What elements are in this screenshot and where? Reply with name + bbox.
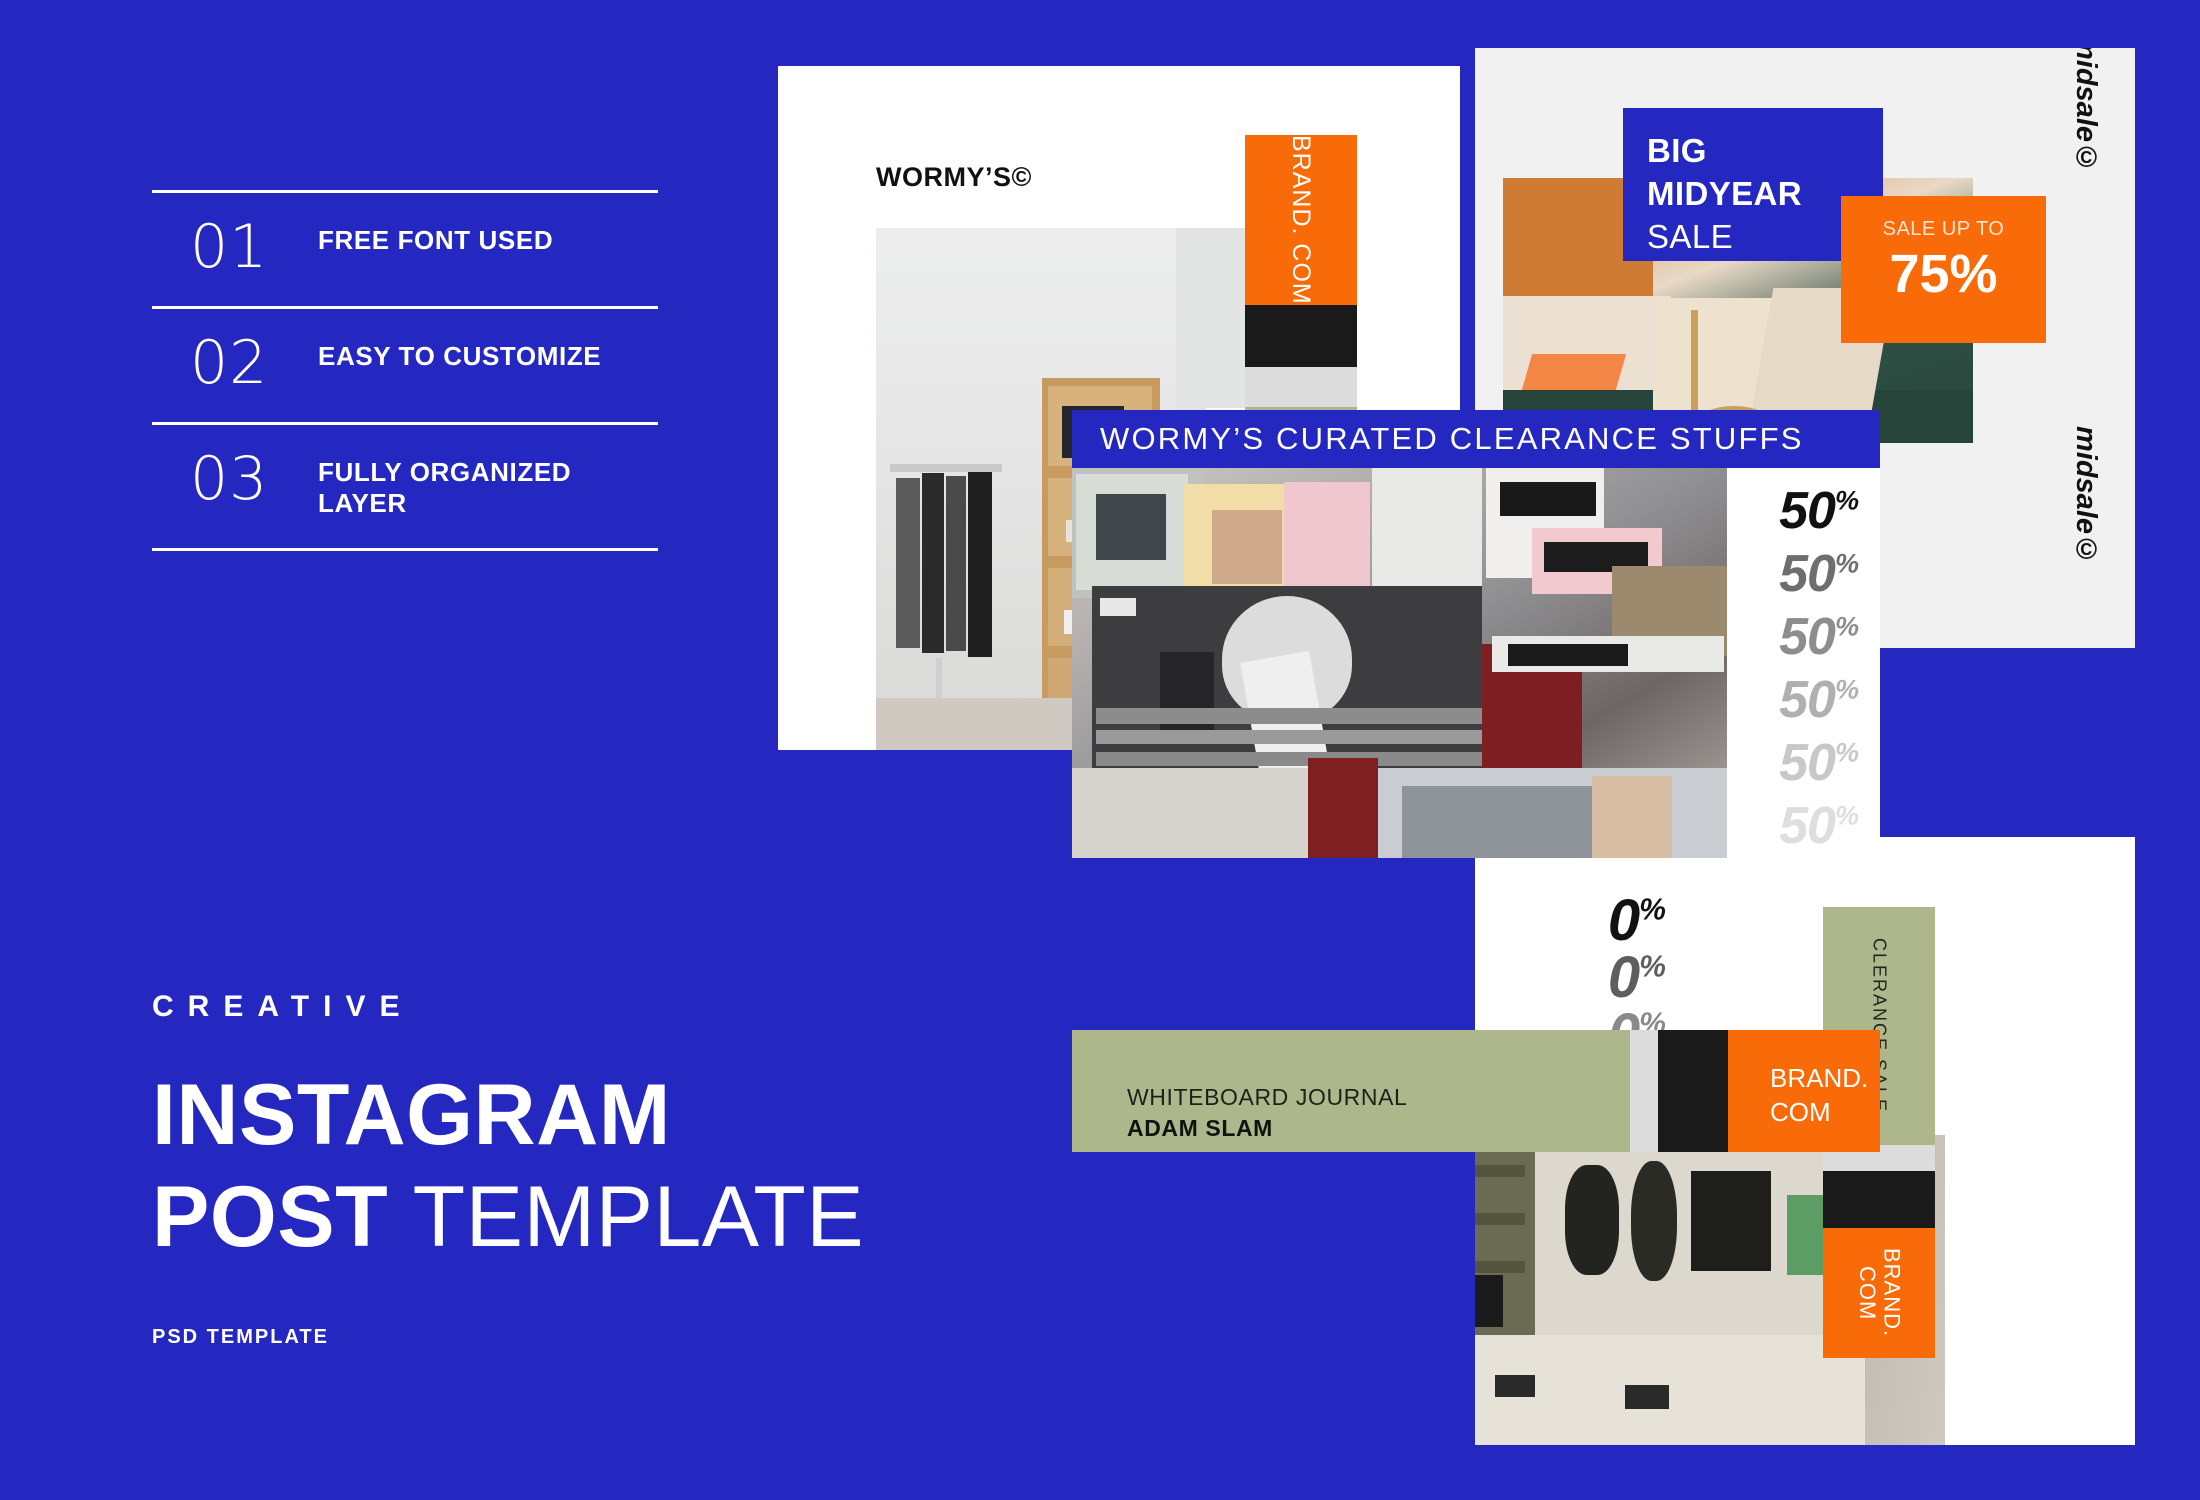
discount-row: 50%: [1727, 486, 1858, 537]
feature-label: FULLY ORGANIZED LAYER: [318, 451, 658, 518]
title-line-2: POST TEMPLATE: [152, 1174, 1052, 1260]
discount-row: 50%: [1727, 801, 1858, 852]
card-brand-name: WORMY’S©: [876, 162, 1032, 193]
feature-item-03: 03 FULLY ORGANIZED LAYER: [152, 425, 658, 548]
caption-sage-block: WHITEBOARD JOURNAL ADAM SLAM: [1072, 1030, 1630, 1152]
feature-label: EASY TO CUSTOMIZE: [318, 335, 601, 372]
brand-line-2: COM: [1770, 1096, 1880, 1130]
caption-publication: WHITEBOARD JOURNAL: [1127, 1082, 1630, 1113]
brand-tab-orange[interactable]: BRAND. COM: [1245, 135, 1357, 305]
swatch-black: [1658, 1030, 1728, 1152]
swatch-black: [1245, 305, 1357, 367]
kicker-text: CREATIVE: [152, 990, 1052, 1024]
title-line-2-bold: POST: [152, 1169, 388, 1265]
photo-magazine-rack: [1072, 468, 1727, 858]
discount-row: 50%: [1727, 675, 1858, 726]
feature-item-01: 01 FREE FONT USED: [152, 193, 658, 306]
title-footnote: PSD TEMPLATE: [152, 1326, 1052, 1349]
brand-tab-label: BRAND. COM: [1245, 135, 1357, 305]
discount-row: 50%: [1727, 738, 1858, 789]
caption-strip: WHITEBOARD JOURNAL ADAM SLAM BRAND. COM: [1072, 1030, 1880, 1190]
discount-row: 50%: [1727, 549, 1858, 600]
discount-row: 0%: [1475, 893, 1665, 950]
feature-number: 03: [190, 451, 282, 508]
photo-texture: [1072, 468, 1727, 858]
brand-tab-orange[interactable]: BRAND. COM: [1823, 1228, 1935, 1358]
feature-number: 01: [190, 219, 282, 276]
brand-block-orange[interactable]: BRAND. COM: [1728, 1030, 1880, 1152]
discount-row: 50%: [1727, 612, 1858, 663]
rotated-brand-label: midsale©: [2069, 48, 2102, 174]
discount-column: 50% 50% 50% 50% 50% 50%: [1727, 468, 1880, 858]
title-block: CREATIVE INSTAGRAM POST TEMPLATE PSD TEM…: [152, 990, 1052, 1349]
brand-tab-label: BRAND. COM: [1823, 1228, 1935, 1358]
feature-label: FREE FONT USED: [318, 219, 553, 256]
brand-line-1: BRAND.: [1770, 1062, 1880, 1096]
page-title: INSTAGRAM POST TEMPLATE: [152, 1072, 1052, 1260]
discount-badge: SALE UP TO 75%: [1841, 196, 2046, 343]
title-line-1: INSTAGRAM: [152, 1072, 1052, 1158]
discount-caption: SALE UP TO: [1841, 218, 2046, 241]
discount-row: 0%: [1475, 950, 1665, 1007]
sale-line-1: BIG: [1647, 130, 1883, 173]
poster-canvas: 01 FREE FONT USED 02 EASY TO CUSTOMIZE 0…: [0, 0, 2200, 1500]
mockup-card-curated-clearance[interactable]: WORMY’S CURATED CLEARANCE STUFFS: [1072, 410, 1880, 858]
caption-author: ADAM SLAM: [1127, 1113, 1630, 1144]
feature-list: 01 FREE FONT USED 02 EASY TO CUSTOMIZE 0…: [152, 190, 658, 551]
rotated-brand-label: midsale©: [2069, 426, 2102, 566]
feature-item-02: 02 EASY TO CUSTOMIZE: [152, 309, 658, 422]
divider: [152, 548, 658, 551]
feature-number: 02: [190, 335, 282, 392]
swatch-gray: [1245, 367, 1357, 407]
card-header-banner: WORMY’S CURATED CLEARANCE STUFFS: [1072, 410, 1880, 468]
discount-value: 75%: [1841, 247, 2046, 301]
swatch-gray: [1630, 1030, 1658, 1152]
title-line-2-light: TEMPLATE: [413, 1169, 865, 1265]
